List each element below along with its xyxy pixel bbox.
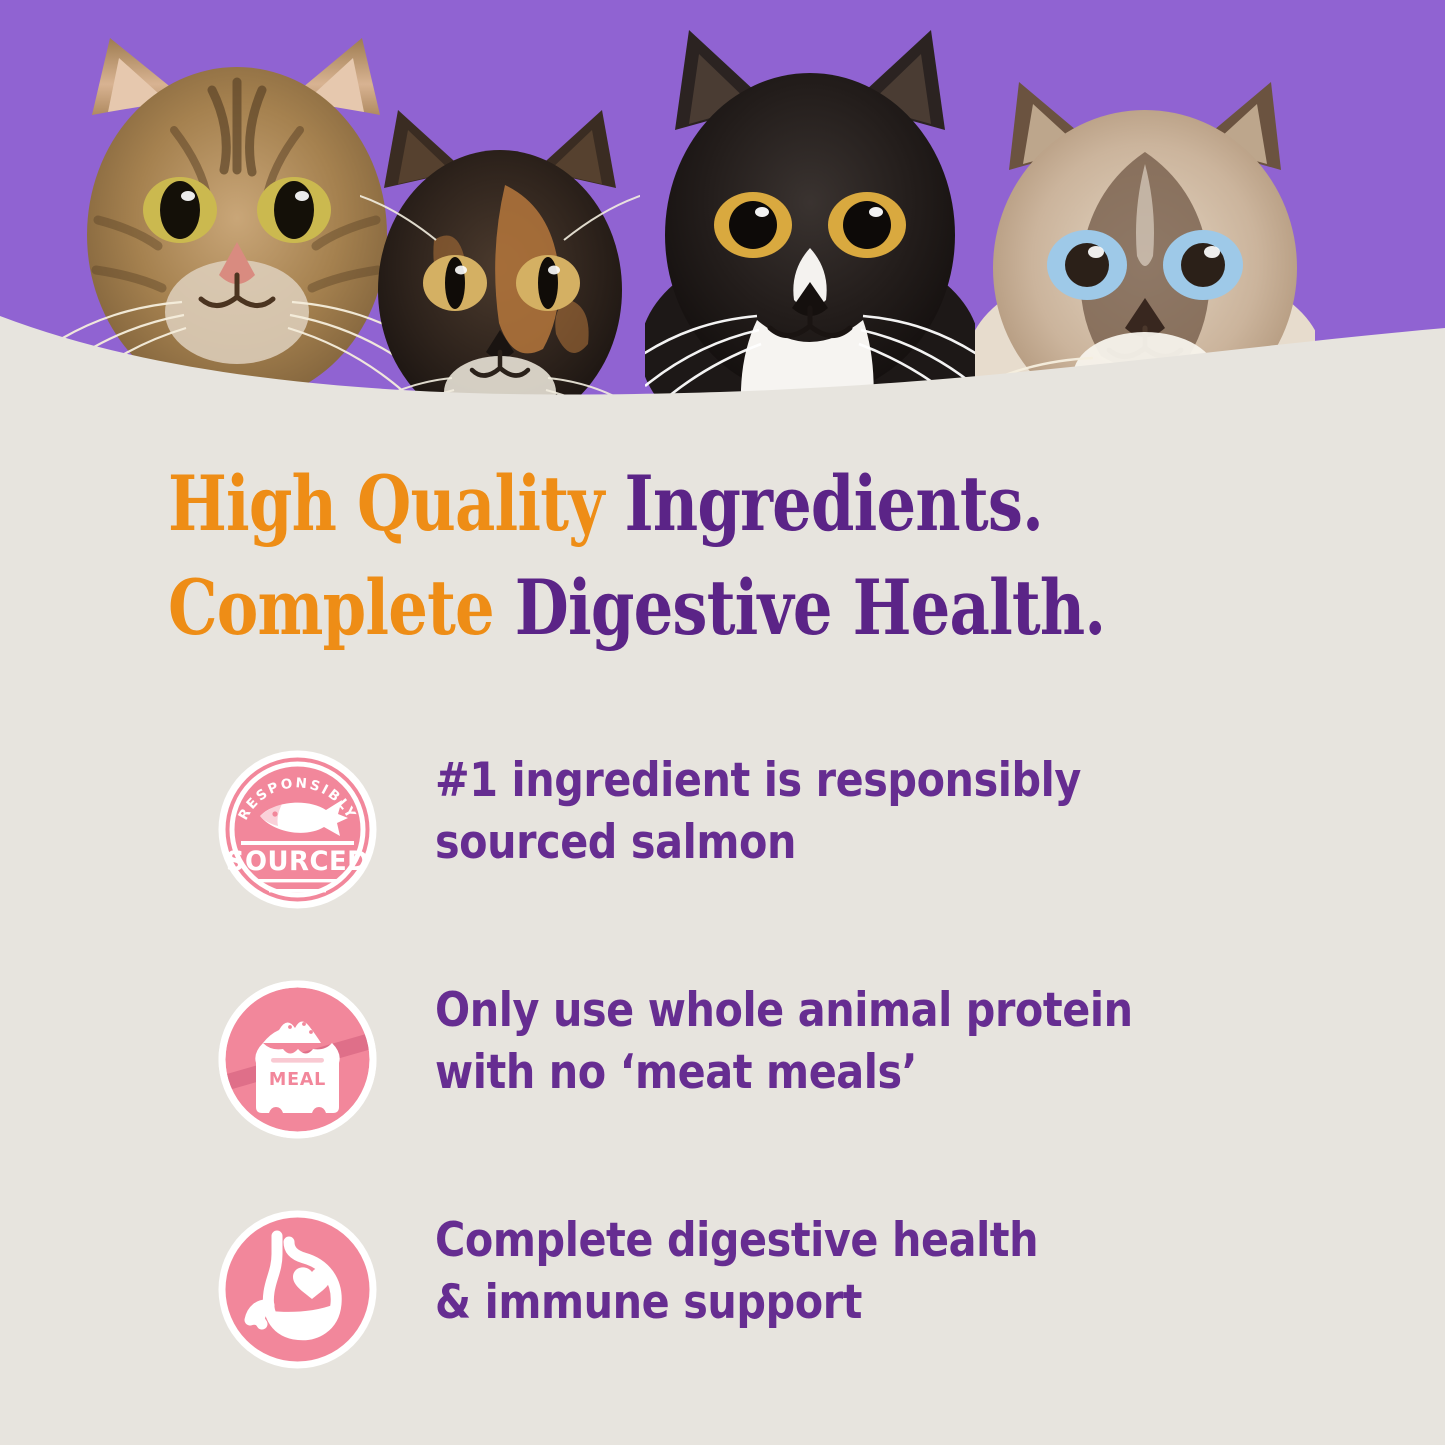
feature-item: Complete digestive health & immune suppo… — [216, 1202, 1276, 1432]
headline-line2-purple: Digestive Health. — [515, 563, 1105, 652]
digestive-health-badge — [216, 1208, 379, 1371]
no-meat-meal-badge: MEAL — [216, 978, 379, 1141]
headline-line-2: Complete Digestive Health. — [168, 556, 1136, 660]
headline-line1-purple: Ingredients. — [624, 459, 1042, 548]
feature-item: MEAL Only use whole animal protein with … — [216, 972, 1276, 1202]
headline-line1-orange: High Quality — [168, 459, 624, 548]
hero-banner — [0, 0, 1445, 420]
page-title: High Quality Ingredients. Complete Diges… — [168, 452, 1348, 660]
headline-line-1: High Quality Ingredients. — [168, 452, 1136, 556]
tortoiseshell-kitten — [360, 90, 640, 420]
feature-text: Complete digestive health & immune suppo… — [435, 1210, 1038, 1334]
feature-list: RESPONSIBLY SOURCED — [216, 742, 1276, 1432]
badge-main-text: SOURCED — [226, 846, 369, 878]
ragdoll-cat — [975, 60, 1315, 420]
feature-text: Only use whole animal protein with no ‘m… — [435, 980, 1133, 1104]
badge-main-text: MEAL — [269, 1070, 326, 1090]
product-feature-infographic: High Quality Ingredients. Complete Diges… — [0, 0, 1445, 1445]
responsibly-sourced-badge: RESPONSIBLY SOURCED — [216, 748, 379, 911]
headline-line2-orange: Complete — [168, 563, 515, 652]
tuxedo-cat — [645, 20, 975, 420]
feature-item: RESPONSIBLY SOURCED — [216, 742, 1276, 972]
feature-text: #1 ingredient is responsibly sourced sal… — [435, 750, 1081, 874]
